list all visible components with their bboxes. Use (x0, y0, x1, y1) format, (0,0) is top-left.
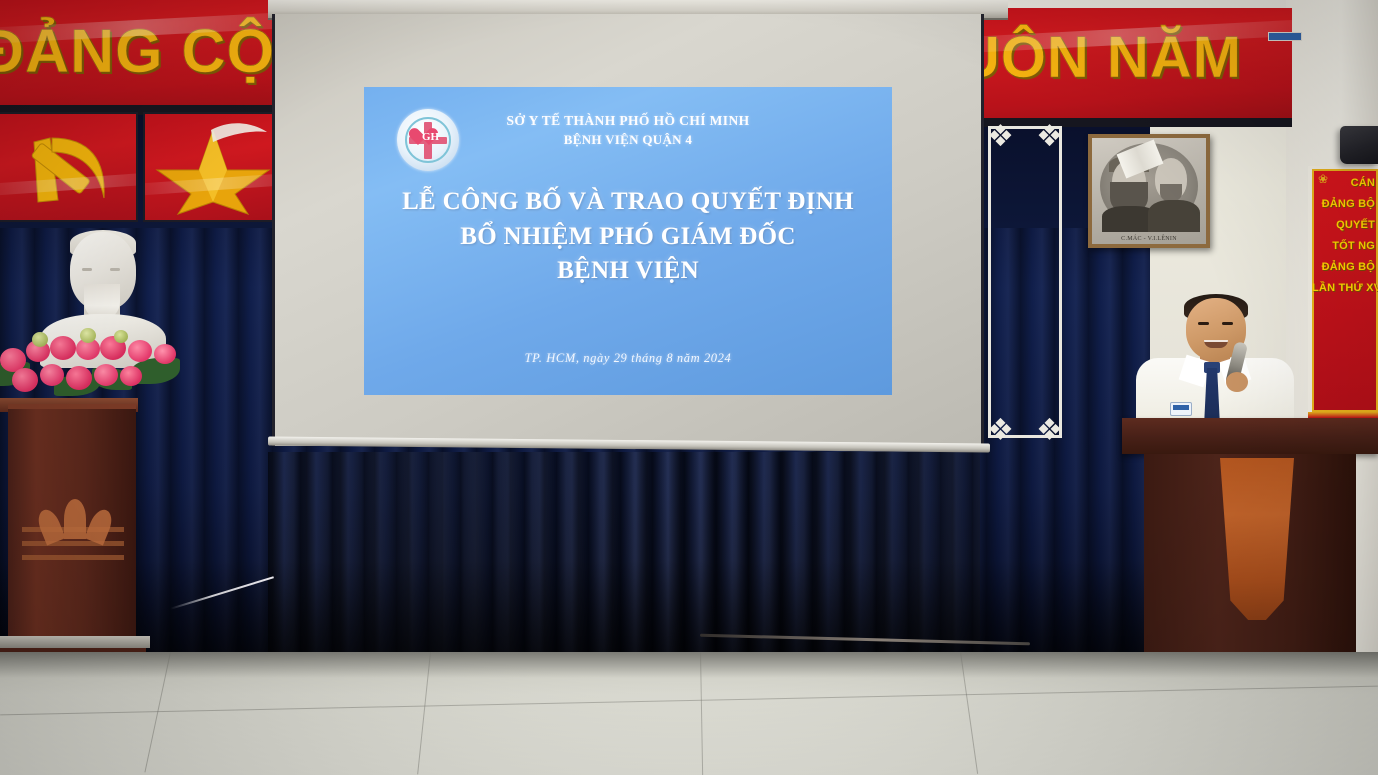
hammer-and-sickle-icon (0, 112, 138, 222)
slide-organization: SỞ Y TẾ THÀNH PHỐ HỒ CHÍ MINH BỆNH VIỆN … (364, 113, 892, 148)
vbanner-line: LẦN THỨ XV - (1312, 282, 1378, 294)
ornament-corner-icon: ❖ (1029, 123, 1063, 153)
banner-left-text: ĐẢNG CỘNG S (0, 16, 290, 86)
projected-slide: GH SỞ Y TẾ THÀNH PHỐ HỒ CHÍ MINH BỆNH VI… (364, 87, 892, 395)
pedestal-step (0, 636, 150, 648)
vbanner-line: QUYẾT (1312, 219, 1378, 231)
slide-title-line-1: LỄ CÔNG BỐ VÀ TRAO QUYẾT ĐỊNH (364, 185, 892, 220)
banner-ornament-icon: ❀ (1318, 172, 1328, 186)
slide-org-line-2: BỆNH VIỆN QUẬN 4 (364, 132, 892, 148)
vertical-red-banner: ❀ CÁN ĐẢNG BỘ QUYẾT TỐT NG ĐẢNG BỘ LẦN T… (1308, 166, 1378, 412)
ornament-corner-icon: ❖ (1029, 411, 1063, 441)
slide-title-line-3: BỆNH VIỆN (364, 254, 892, 289)
name-badge (1170, 402, 1192, 416)
flower-arrangement (0, 318, 196, 404)
bust-pedestal (8, 404, 136, 674)
slide-org-line-1: SỞ Y TẾ THÀNH PHỐ HỒ CHÍ MINH (364, 113, 892, 129)
slide-title: LỄ CÔNG BỐ VÀ TRAO QUYẾT ĐỊNH BỔ NHIỆM P… (364, 185, 892, 289)
vbanner-line: TỐT NG (1312, 240, 1378, 252)
portrait-caption: C.MÁC - V.I.LÊNIN (1092, 236, 1206, 242)
banner-right-text: UÔN NĂM (958, 24, 1242, 91)
speaker-person (1130, 296, 1300, 428)
floor-shadow (0, 652, 1378, 678)
gold-star-icon (143, 112, 279, 222)
housing-label (1268, 32, 1302, 41)
vbanner-line: ĐẢNG BỘ (1312, 198, 1378, 210)
banner-right: UÔN NĂM (952, 8, 1292, 120)
ornament-corner-icon: ❖ (987, 411, 1021, 441)
slide-date: TP. HCM, ngày 29 tháng 8 năm 2024 (364, 351, 892, 366)
vbanner-line: ĐẢNG BỘ (1312, 261, 1378, 273)
ornament-corner-icon: ❖ (987, 123, 1021, 153)
photo-scene: ĐẢNG CỘNG S UÔN NĂM (0, 0, 1378, 775)
curtain-ornament-frame: ❖ ❖ ❖ ❖ (988, 126, 1062, 438)
banner-left: ĐẢNG CỘNG S (0, 0, 290, 108)
marx-lenin-portrait: C.MÁC - V.I.LÊNIN (1088, 134, 1210, 248)
podium-inlay (1220, 458, 1294, 620)
wall-speaker-icon (1340, 126, 1378, 164)
pedestal-lotus-icon (28, 499, 124, 569)
slide-title-line-2: BỔ NHIỆM PHÓ GIÁM ĐỐC (364, 220, 892, 255)
logo-monogram: GH (422, 131, 439, 143)
